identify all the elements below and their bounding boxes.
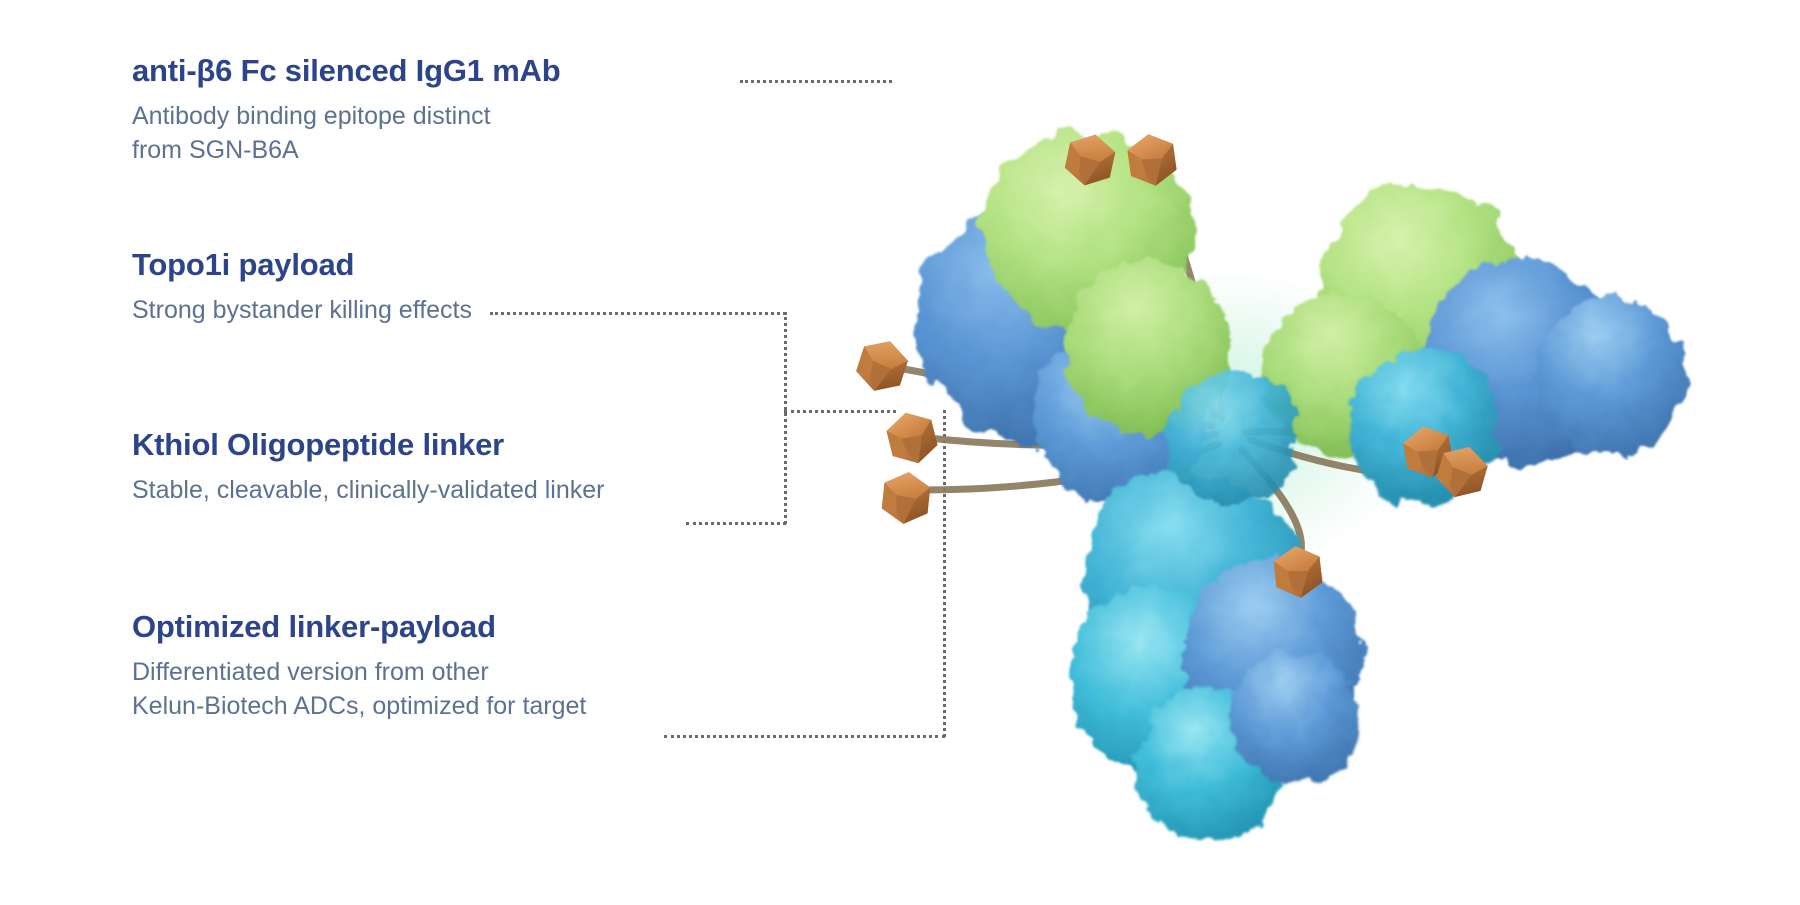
callout-body: Stable, cleavable, clinically-validated … bbox=[132, 462, 604, 508]
payload-molecule bbox=[883, 407, 940, 469]
leader-line-payload-top bbox=[490, 312, 786, 315]
payload-molecule bbox=[880, 470, 931, 527]
callout-title: anti-β6 Fc silenced IgG1 mAb bbox=[132, 54, 560, 88]
figure-canvas: anti-β6 Fc silenced IgG1 mAb Antibody bi… bbox=[0, 0, 1800, 905]
callout-body: Antibody binding epitope distinct from S… bbox=[132, 88, 560, 167]
payload-molecule bbox=[852, 334, 912, 398]
callout-body: Strong bystander killing effects bbox=[132, 282, 472, 328]
callout-title: Kthiol Oligopeptide linker bbox=[132, 428, 604, 462]
antibody-drug-conjugate-molecular-render: Space-filling molecular surface render o… bbox=[760, 20, 1780, 890]
callout-title: Topo1i payload bbox=[132, 248, 472, 282]
callout-payload: Topo1i payload Strong bystander killing … bbox=[132, 248, 472, 328]
callout-antibody: anti-β6 Fc silenced IgG1 mAb Antibody bi… bbox=[132, 54, 560, 167]
callout-linker: Kthiol Oligopeptide linker Stable, cleav… bbox=[132, 428, 604, 508]
callout-body: Differentiated version from other Kelun-… bbox=[132, 644, 586, 723]
callout-title: Optimized linker-payload bbox=[132, 610, 586, 644]
callout-optimized-linker-payload: Optimized linker-payload Differentiated … bbox=[132, 610, 586, 723]
